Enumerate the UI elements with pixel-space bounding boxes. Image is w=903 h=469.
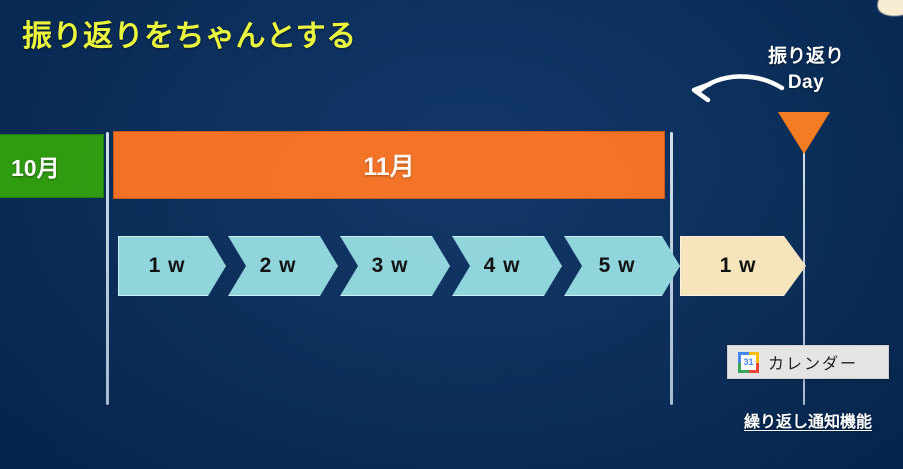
repeat-notification-label[interactable]: 繰り返し通知機能 (727, 408, 889, 432)
week-chevron-label-1: 1 w (149, 254, 186, 278)
timeline-guide-line-left (106, 132, 109, 405)
week-chevron-5: 5 w (564, 236, 680, 296)
calendar-icon-day: 31 (741, 355, 756, 370)
curved-arrow-left-icon (686, 66, 786, 112)
week-chevron-label-2: 2 w (260, 254, 297, 278)
calendar-chip-label: カレンダー (768, 350, 858, 374)
calendar-chip[interactable]: 31 カレンダー (727, 345, 889, 379)
week-chevron-label-3: 3 w (372, 254, 409, 278)
week-chevron-2: 2 w (228, 236, 338, 296)
week-chevron-label-4: 4 w (484, 254, 521, 278)
week-chevron-1: 1 w (118, 236, 226, 296)
month-bar-october: 10月 (0, 134, 104, 198)
week-chevron-3: 3 w (340, 236, 450, 296)
month-label-october: 10月 (11, 149, 60, 183)
page-title: 振り返りをちゃんとする (22, 11, 357, 55)
slide-canvas: 振り返りをちゃんとする 10月 11月 1 w 2 w 3 w 4 w 5 w … (0, 0, 903, 469)
week-chevron-4: 4 w (452, 236, 562, 296)
month-bar-november: 11月 (113, 131, 665, 199)
week-chevron-review: 1 w (680, 236, 806, 296)
month-label-november: 11月 (363, 147, 414, 183)
google-calendar-icon: 31 (738, 352, 759, 373)
corner-overlay-artifact (875, 0, 903, 20)
down-triangle-icon (778, 112, 830, 154)
week-chevron-label-5: 5 w (599, 254, 636, 278)
week-chevron-label-review: 1 w (720, 254, 757, 278)
